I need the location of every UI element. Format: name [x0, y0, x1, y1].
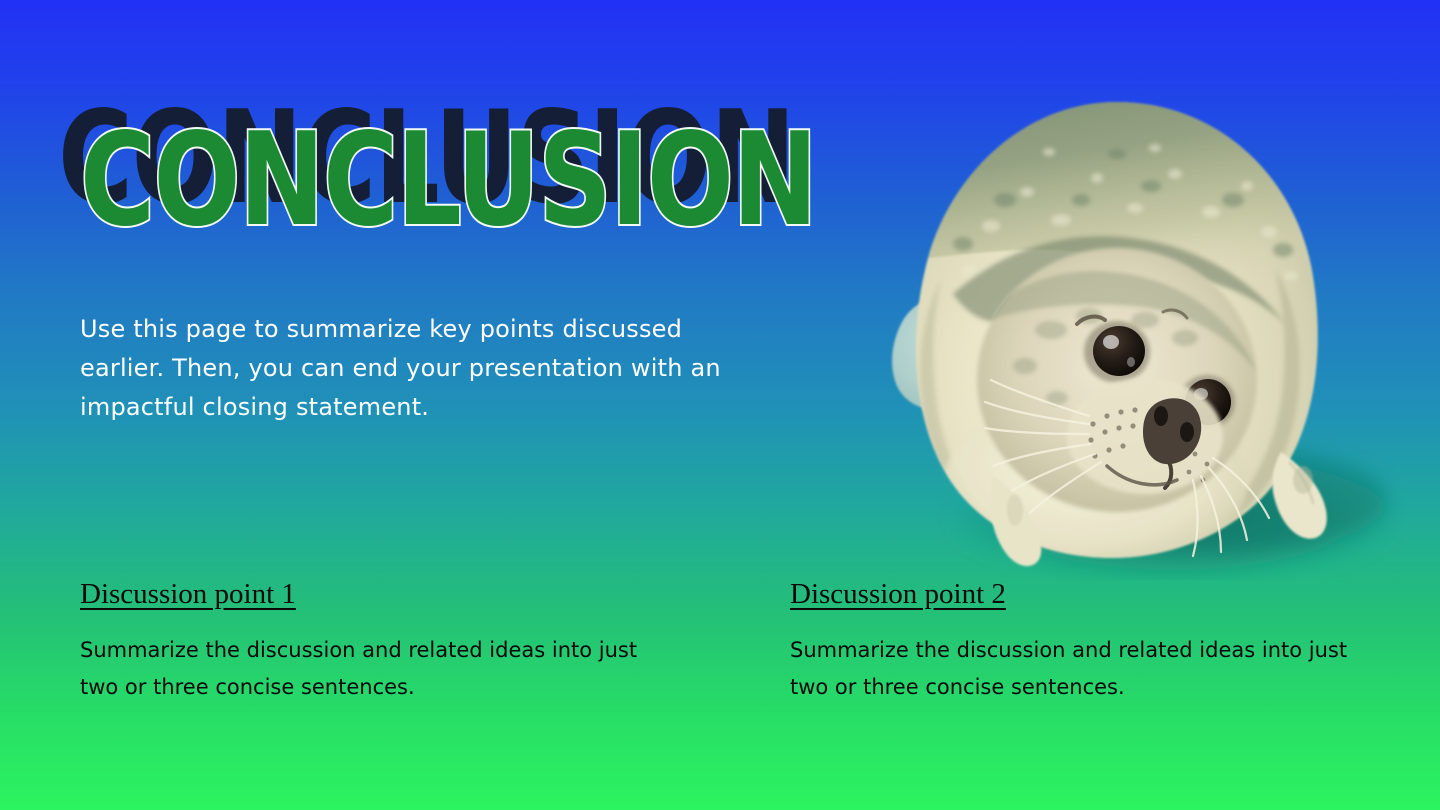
seal-body: [905, 96, 1327, 570]
discussion-column-2: Discussion point 2 Summarize the discuss…: [790, 578, 1390, 706]
seal-photo: [845, 80, 1405, 580]
seal-shadow: [947, 448, 1403, 580]
seal-eye-right: [1179, 375, 1235, 429]
page-title-text: CONCLUSION: [80, 112, 816, 250]
discussion-body-2: Summarize the discussion and related ide…: [790, 632, 1360, 706]
page-title: CONCLUSION CONCLUSION: [80, 112, 840, 282]
seal-eye-left: [1084, 321, 1150, 383]
discussion-body-1: Summarize the discussion and related ide…: [80, 632, 650, 706]
seal-rear-flippers: [990, 452, 1326, 566]
discussion-heading-2: Discussion point 2: [790, 578, 1006, 610]
seal-whiskers: [985, 380, 1269, 556]
intro-paragraph: Use this page to summarize key points di…: [80, 310, 740, 427]
seal-nose: [1143, 398, 1201, 488]
discussion-column-1: Discussion point 1 Summarize the discuss…: [80, 578, 680, 706]
slide-canvas: CONCLUSION CONCLUSION Use this page to s…: [0, 0, 1440, 810]
discussion-heading-1: Discussion point 1: [80, 578, 296, 610]
seal-left-flipper: [892, 297, 1001, 410]
seal-face: [977, 248, 1269, 556]
